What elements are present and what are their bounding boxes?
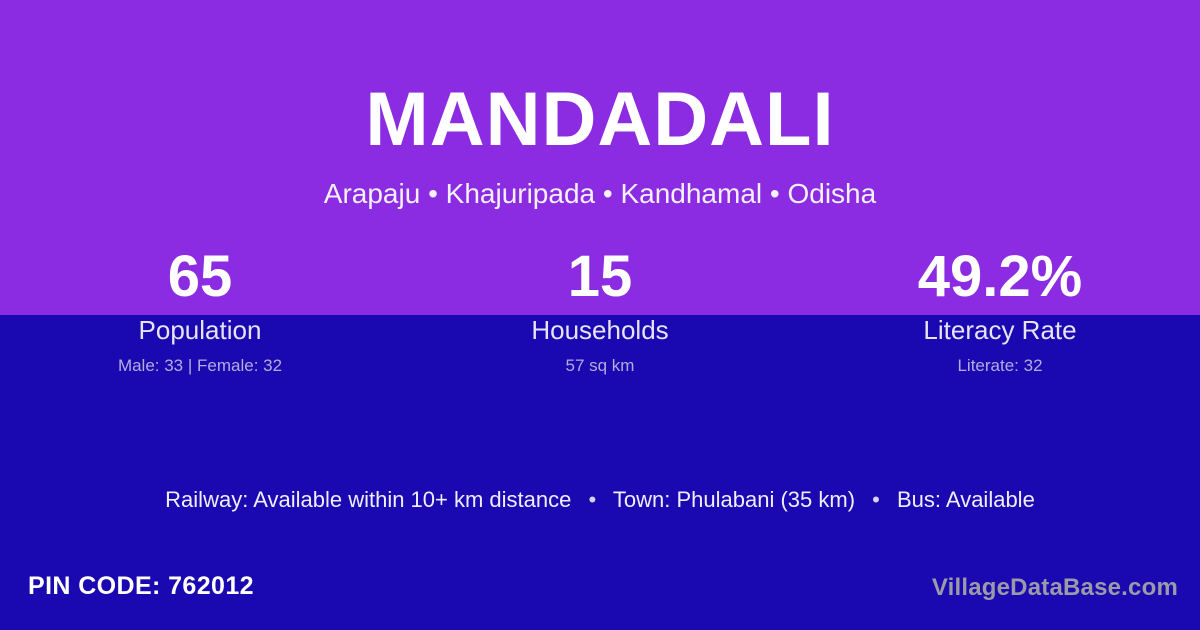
breadcrumb: Arapaju • Khajuripada • Kandhamal • Odis… [0,158,1200,208]
pin-code: PIN CODE: 762012 [28,570,254,602]
stat-value: 49.2% [800,244,1200,310]
stat-literacy-rate: 49.2% Literacy Rate Literate: 32 [800,244,1200,378]
stat-value: 65 [0,244,400,310]
stat-value: 15 [400,244,800,310]
stat-households: 15 Households 57 sq km [400,244,800,378]
card-footer: PIN CODE: 762012 VillageDataBase.com [0,558,1200,630]
stat-population: 65 Population Male: 33 | Female: 32 [0,244,400,378]
card-header: MANDADALI Arapaju • Khajuripada • Kandha… [0,0,1200,208]
infra-separator: • [578,487,608,512]
infra-item-bus: Bus: Available [897,487,1035,512]
stat-label: Households [400,310,800,346]
stat-sublabel: Literate: 32 [800,346,1200,378]
page-title: MANDADALI [0,0,1200,158]
village-info-card: MANDADALI Arapaju • Khajuripada • Kandha… [0,0,1200,630]
stats-row: 65 Population Male: 33 | Female: 32 15 H… [0,244,1200,378]
infra-item-railway: Railway: Available within 10+ km distanc… [165,487,571,512]
site-brand: VillageDataBase.com [932,572,1178,604]
infrastructure-row: Railway: Available within 10+ km distanc… [0,483,1200,517]
infra-item-town: Town: Phulabani (35 km) [613,487,855,512]
stat-sublabel: 57 sq km [400,346,800,378]
stat-label: Literacy Rate [800,310,1200,346]
infra-separator: • [861,487,891,512]
stat-label: Population [0,310,400,346]
stat-sublabel: Male: 33 | Female: 32 [0,346,400,378]
